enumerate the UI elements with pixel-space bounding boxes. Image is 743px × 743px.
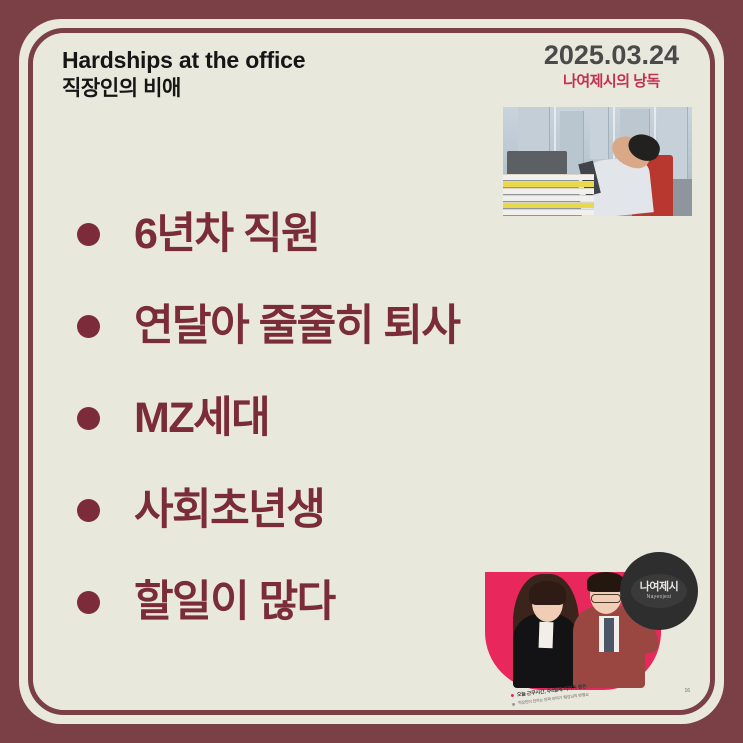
list-item-label: 사회초년생 bbox=[134, 489, 324, 532]
page-title: Hardships at the office 직장인의 비애 bbox=[62, 46, 305, 103]
title-english: Hardships at the office bbox=[62, 46, 305, 75]
bullet-dot-icon bbox=[77, 591, 100, 614]
caption-bullet-icon bbox=[511, 694, 514, 697]
bullet-dot-icon bbox=[77, 223, 100, 246]
list-item: MZ세대 bbox=[77, 372, 597, 464]
presenter-woman-shirt bbox=[539, 622, 554, 648]
bullet-dot-icon bbox=[77, 499, 100, 522]
bullet-dot-icon bbox=[77, 407, 100, 430]
logo-english-text: Nayeojesi bbox=[647, 595, 672, 600]
list-item-label: MZ세대 bbox=[134, 397, 269, 440]
photo-building bbox=[590, 107, 609, 159]
date-text: 2025.03.24 bbox=[544, 39, 679, 71]
title-korean: 직장인의 비애 bbox=[62, 75, 305, 102]
page-number: 16 bbox=[684, 688, 690, 694]
presenters-graphic: 나여제시 Nayeojesi 오늘 근무시간, 주4일제 지키기 좋은 직장인이… bbox=[477, 550, 710, 710]
list-item-label: 연달아 줄줄히 퇴사 bbox=[134, 305, 459, 348]
list-item-label: 할일이 많다 bbox=[134, 581, 335, 624]
glasses-icon bbox=[591, 594, 621, 603]
presenter-man-tie bbox=[604, 618, 614, 652]
presenter-woman-hair-front bbox=[529, 581, 566, 605]
date-block: 2025.03.24 나여제시의 낭독 bbox=[544, 39, 679, 93]
logo-korean-text: 나여제시 bbox=[640, 582, 678, 593]
caption-bullet-icon bbox=[512, 702, 515, 705]
program-logo-badge: 나여제시 Nayeojesi bbox=[620, 552, 698, 630]
logo-inner-ellipse: 나여제시 Nayeojesi bbox=[631, 574, 687, 608]
card-inner-surface: Hardships at the office 직장인의 비애 2025.03.… bbox=[33, 33, 710, 710]
list-item: 6년차 직원 bbox=[77, 188, 597, 280]
slide-card: Hardships at the office 직장인의 비애 2025.03.… bbox=[0, 0, 743, 743]
list-item-label: 6년차 직원 bbox=[134, 213, 319, 256]
program-name: 나여제시의 낭독 bbox=[544, 72, 679, 92]
list-item: 사회초년생 bbox=[77, 464, 597, 556]
list-item: 연달아 줄줄히 퇴사 bbox=[77, 280, 597, 372]
bullet-dot-icon bbox=[77, 315, 100, 338]
